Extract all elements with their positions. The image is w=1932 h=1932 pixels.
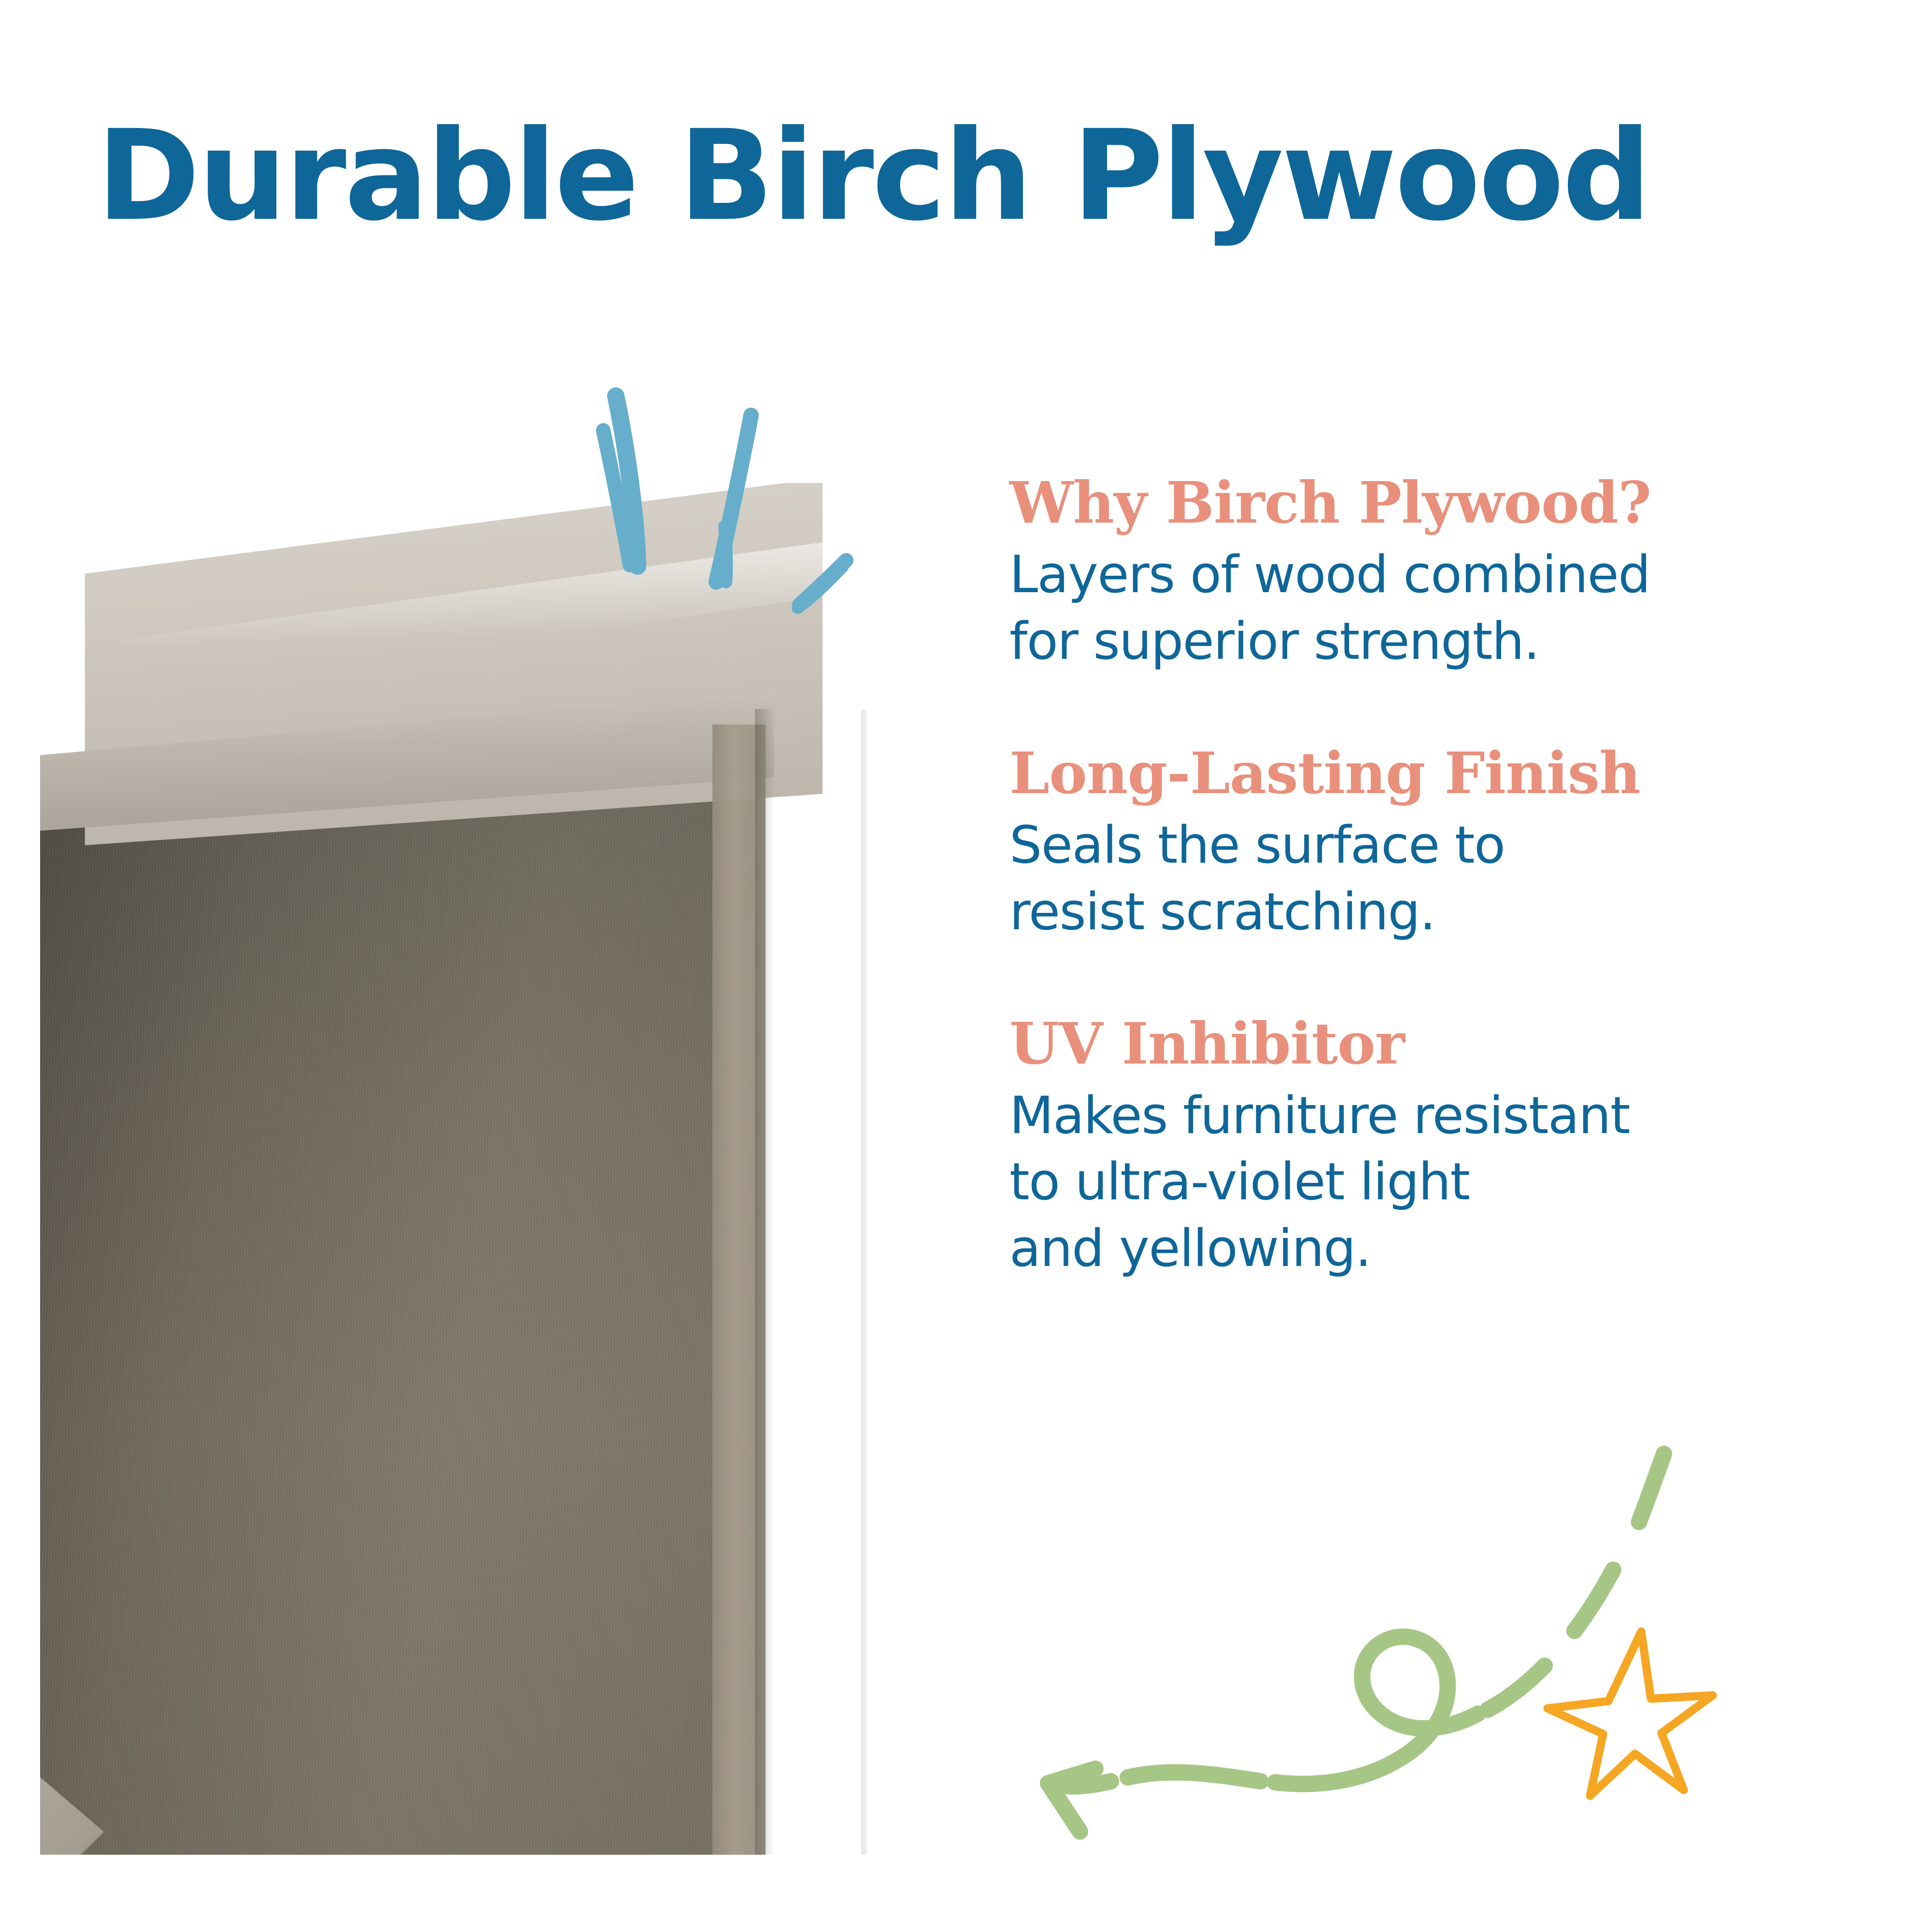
feature-list: Why Birch Plywood? Layers of wood combin… (1009, 471, 1879, 1282)
feature-body-line: Layers of wood combined (1009, 541, 1879, 608)
feature-body: Makes furniture resistant to ultra-viole… (1009, 1082, 1879, 1282)
feature-heading: UV Inhibitor (1009, 1012, 1879, 1076)
feature-heading: Why Birch Plywood? (1009, 471, 1879, 535)
feature-body-line: Makes furniture resistant (1009, 1082, 1879, 1149)
infographic-canvas: Durable Birch Plywood (0, 0, 1932, 1932)
page-title: Durable Birch Plywood (97, 114, 1860, 238)
feature-uv-inhibitor: UV Inhibitor Makes furniture resistant t… (1009, 1012, 1879, 1282)
feature-body: Seals the surface to resist scratching. (1009, 812, 1879, 945)
feature-why-birch-plywood: Why Birch Plywood? Layers of wood combin… (1009, 471, 1879, 675)
cabinet-interior-panel (40, 782, 755, 1855)
feature-long-lasting-finish: Long-Lasting Finish Seals the surface to… (1009, 741, 1879, 945)
feature-body-line: and yellowing. (1009, 1215, 1879, 1282)
feature-body: Layers of wood combined for superior str… (1009, 541, 1879, 675)
feature-body-line: for superior strength. (1009, 608, 1879, 675)
star-outline (1548, 1632, 1713, 1796)
cabinet-drop-shadow (861, 710, 867, 1855)
feature-heading: Long-Lasting Finish (1009, 741, 1879, 805)
product-photo (40, 483, 867, 1855)
cabinet-side-shading (755, 709, 774, 1855)
feature-body-line: to ultra-violet light (1009, 1149, 1879, 1215)
feature-body-line: resist scratching. (1009, 879, 1879, 945)
curved-dashed-arrow (1048, 1454, 1664, 1832)
feature-body-line: Seals the surface to (1009, 812, 1879, 879)
